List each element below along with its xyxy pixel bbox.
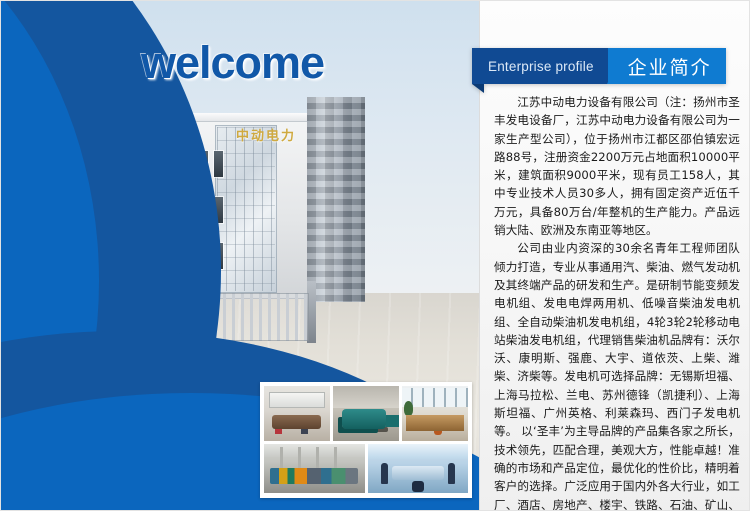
building-roof-sign-text: 中动电力 [223,127,309,147]
meeting-room-photo [264,386,330,441]
photo-collage [260,382,472,498]
profile-paragraph-2: 公司由业内资深的30余名青年工程师团队倾力打造，专业从事通用汽、柴油、燃气发动机… [494,239,740,511]
collage-row-top [264,386,468,441]
generator-workshop-photo [333,386,399,441]
company-profile-page: 中动电力 江苏中动电力设备有限公司 Zhongdong Power Equipm… [0,0,750,511]
boardroom-photo [368,444,469,493]
factory-floor-photo [264,444,365,493]
building-right-tower [307,97,365,302]
building-glass-curtain [215,125,277,293]
collage-row-bottom [264,444,468,493]
banner-english-label: Enterprise profile [472,48,608,84]
profile-body-text: 江苏中动电力设备有限公司（注：扬州市圣丰发电设备厂，江苏中动电力设备有限公司为一… [494,93,740,511]
open-office-photo [402,386,468,441]
welcome-title: welcome [141,37,324,89]
hero-photo-panel: 中动电力 江苏中动电力设备有限公司 Zhongdong Power Equipm… [1,1,479,511]
banner-chinese-label: 企业简介 [608,48,726,84]
section-header-banner: Enterprise profile 企业简介 [472,48,726,84]
profile-text-panel: Enterprise profile 企业简介 江苏中动电力设备有限公司（注：扬… [479,1,750,511]
profile-paragraph-1: 江苏中动电力设备有限公司（注：扬州市圣丰发电设备厂，江苏中动电力设备有限公司为一… [494,93,740,239]
banner-notch-decor [472,84,484,93]
